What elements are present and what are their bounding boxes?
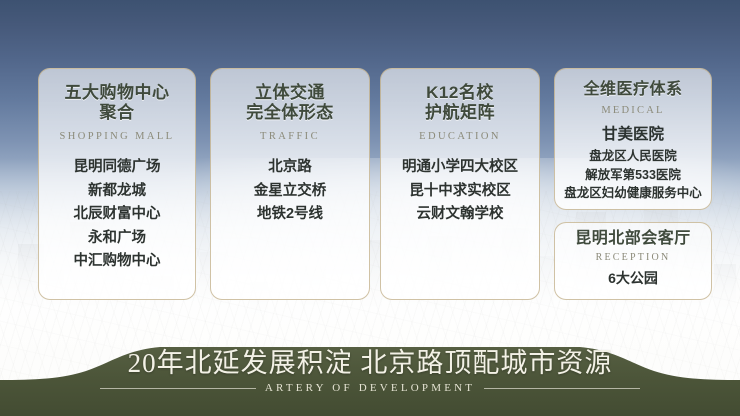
card-item-list: 北京路 金星立交桥 地铁2号线	[211, 156, 369, 226]
card-item-list: 昆明同德广场 新都龙城 北辰财富中心 永和广场 中汇购物中心	[39, 156, 195, 273]
banner-subtitle-rule: ARTERY OF DEVELOPMENT	[100, 382, 640, 394]
card-title: 五大购物中心 聚合	[39, 83, 195, 123]
card-traffic: 立体交通 完全体形态 TRAFFIC 北京路 金星立交桥 地铁2号线	[210, 68, 370, 300]
card-shopping-mall: 五大购物中心 聚合 SHOPPING MALL 昆明同德广场 新都龙城 北辰财富…	[38, 68, 196, 300]
list-item: 解放军第533医院	[555, 166, 711, 185]
banner-subtitle: ARTERY OF DEVELOPMENT	[256, 382, 484, 394]
list-item: 云财文翰学校	[381, 203, 539, 226]
card-item-list: 6大公园	[555, 267, 711, 290]
list-item: 6大公园	[555, 267, 711, 290]
list-item: 新都龙城	[39, 180, 195, 203]
card-subtitle: EDUCATION	[381, 131, 539, 142]
card-item-list: 明通小学四大校区 昆十中求实校区 云财文翰学校	[381, 156, 539, 226]
banner-title: 20年北延发展积淀 北京路顶配城市资源	[128, 349, 613, 377]
card-education: K12名校 护航矩阵 EDUCATION 明通小学四大校区 昆十中求实校区 云财…	[380, 68, 540, 300]
list-item: 金星立交桥	[211, 180, 369, 203]
card-title: 昆明北部会客厅	[555, 230, 711, 249]
card-item-list: 甘美医院 盘龙区人民医院 解放军第533医院 盘龙区妇幼健康服务中心	[555, 123, 711, 203]
card-medical: 全维医疗体系 MEDICAL 甘美医院 盘龙区人民医院 解放军第533医院 盘龙…	[554, 68, 712, 210]
list-item: 明通小学四大校区	[381, 156, 539, 179]
list-item: 地铁2号线	[211, 203, 369, 226]
card-title: 全维医疗体系	[555, 81, 711, 100]
list-item: 昆十中求实校区	[381, 180, 539, 203]
card-subtitle: RECEPTION	[555, 252, 711, 263]
card-subtitle: TRAFFIC	[211, 131, 369, 142]
card-reception: 昆明北部会客厅 RECEPTION 6大公园	[554, 222, 712, 300]
bottom-banner: 20年北延发展积淀 北京路顶配城市资源 ARTERY OF DEVELOPMEN…	[0, 340, 740, 416]
card-title: 立体交通 完全体形态	[211, 83, 369, 123]
list-item: 昆明同德广场	[39, 156, 195, 179]
card-subtitle: MEDICAL	[555, 105, 711, 116]
list-item: 北京路	[211, 156, 369, 179]
list-item: 永和广场	[39, 227, 195, 250]
poster-root: 五大购物中心 聚合 SHOPPING MALL 昆明同德广场 新都龙城 北辰财富…	[0, 0, 740, 416]
rule-line-right	[484, 388, 640, 389]
list-item: 盘龙区妇幼健康服务中心	[555, 184, 711, 203]
list-item: 北辰财富中心	[39, 203, 195, 226]
card-subtitle: SHOPPING MALL	[39, 131, 195, 142]
list-item: 中汇购物中心	[39, 250, 195, 273]
list-item: 盘龙区人民医院	[555, 147, 711, 166]
rule-line-left	[100, 388, 256, 389]
list-item: 甘美医院	[555, 123, 711, 147]
card-title: K12名校 护航矩阵	[381, 83, 539, 123]
